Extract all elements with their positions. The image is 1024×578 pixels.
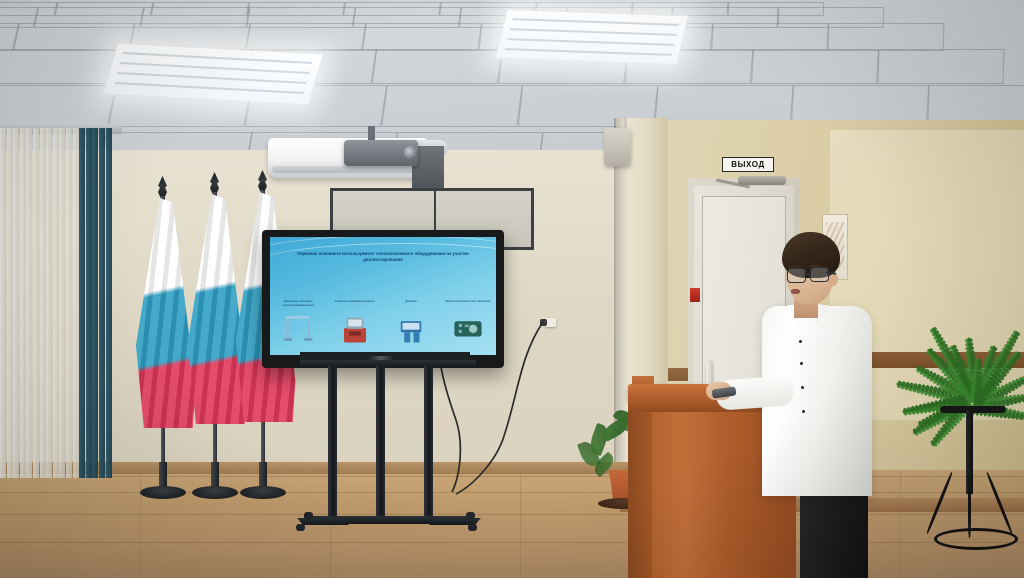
slide-equipment-jack-icon bbox=[383, 311, 440, 351]
ceiling-tile bbox=[711, 23, 829, 51]
exit-sign-label: ВЫХОД bbox=[731, 160, 765, 169]
blind-slat bbox=[106, 128, 112, 478]
blind-slat bbox=[33, 128, 39, 478]
glasses-bridge bbox=[804, 273, 811, 275]
blind-slat bbox=[73, 128, 79, 478]
blind-slat bbox=[7, 128, 13, 478]
fern-stand-top bbox=[940, 406, 1006, 413]
blind-slat bbox=[13, 128, 19, 478]
blind-slat bbox=[79, 128, 85, 478]
tv-stand-caster-3 bbox=[304, 512, 313, 519]
shirt-button-3 bbox=[801, 386, 804, 389]
tv-stand-caster-2 bbox=[468, 524, 477, 531]
ceiling-tile bbox=[372, 49, 503, 84]
ceiling-tile bbox=[381, 85, 522, 127]
slide-title: Перечень основного используемого техноло… bbox=[293, 251, 474, 263]
slide-equipment-injector-bench-icon bbox=[327, 311, 384, 351]
ceiling-tile bbox=[877, 49, 1004, 84]
glasses-lens-right bbox=[810, 267, 829, 282]
slide-equipment-item: Стенд для промывки форсунок bbox=[327, 300, 384, 351]
blind-slat bbox=[46, 128, 52, 478]
tv-stand-post-left bbox=[328, 366, 337, 518]
fern-stand-base-ring bbox=[934, 528, 1018, 550]
ceiling-tile bbox=[246, 23, 366, 51]
shirt-button-1 bbox=[799, 340, 802, 343]
tv-stand-foot-left bbox=[297, 518, 349, 525]
tv-stand-caster-4 bbox=[466, 512, 475, 519]
slide-equipment-lift-icon bbox=[270, 311, 327, 351]
projector-lens-icon bbox=[404, 146, 418, 160]
ceiling-tile bbox=[362, 23, 482, 51]
slide-equipment-caption: Стенд для промывки форсунок bbox=[327, 300, 384, 311]
blind-slat bbox=[86, 128, 92, 478]
blind-slat bbox=[26, 128, 32, 478]
blind-slat bbox=[66, 128, 72, 478]
blind-slat bbox=[20, 128, 26, 478]
ceiling-tile bbox=[0, 85, 116, 127]
tv-stand-post-center bbox=[376, 366, 385, 518]
slide-equipment-item: Двигатель подъёмник электрогидравлически… bbox=[270, 300, 327, 351]
fire-alarm-icon[interactable] bbox=[690, 288, 700, 302]
blind-slat bbox=[59, 128, 65, 478]
slide-equipment-item: Прибор для диагностики зажигания bbox=[440, 300, 497, 351]
flag-stand-base bbox=[140, 486, 186, 499]
presentation-slide: Перечень основного используемого техноло… bbox=[270, 237, 496, 355]
tv-stand-post-right bbox=[424, 366, 433, 518]
exit-sign: ВЫХОД bbox=[722, 157, 774, 172]
ceiling-light-1 bbox=[102, 42, 324, 105]
flag-stand-base bbox=[192, 486, 238, 499]
door-closer bbox=[738, 176, 786, 185]
tv-stand-caster-1 bbox=[296, 524, 305, 531]
slide-equipment-item: Домкрат bbox=[383, 300, 440, 351]
shirt-button-4 bbox=[802, 410, 805, 413]
glasses-lens-left bbox=[787, 268, 806, 283]
slide-equipment-scanner-icon bbox=[440, 311, 497, 351]
blind-slat bbox=[40, 128, 46, 478]
blind-slat bbox=[92, 128, 98, 478]
tv-stand-crossbar bbox=[300, 360, 476, 367]
blind-slat bbox=[99, 128, 105, 478]
blind-slat bbox=[0, 128, 6, 478]
slide-equipment-caption: Домкрат bbox=[383, 300, 440, 311]
slide-equipment-caption: Прибор для диагностики зажигания bbox=[440, 300, 497, 311]
wall-speaker bbox=[604, 128, 630, 166]
ceiling-light-2 bbox=[495, 9, 690, 65]
flag-stand-base bbox=[240, 486, 286, 499]
shirt-button-2 bbox=[800, 362, 803, 365]
blind-slat bbox=[53, 128, 59, 478]
presenter-mouth bbox=[791, 289, 800, 294]
ceiling-tile bbox=[751, 49, 879, 84]
ceiling-tile bbox=[828, 23, 945, 51]
vertical-blinds[interactable] bbox=[0, 128, 116, 478]
photo-scene: ВЫХОД Перечень основного используемого т… bbox=[0, 0, 1024, 578]
slide-equipment-caption: Двигатель подъёмник электрогидравлически… bbox=[270, 300, 327, 311]
